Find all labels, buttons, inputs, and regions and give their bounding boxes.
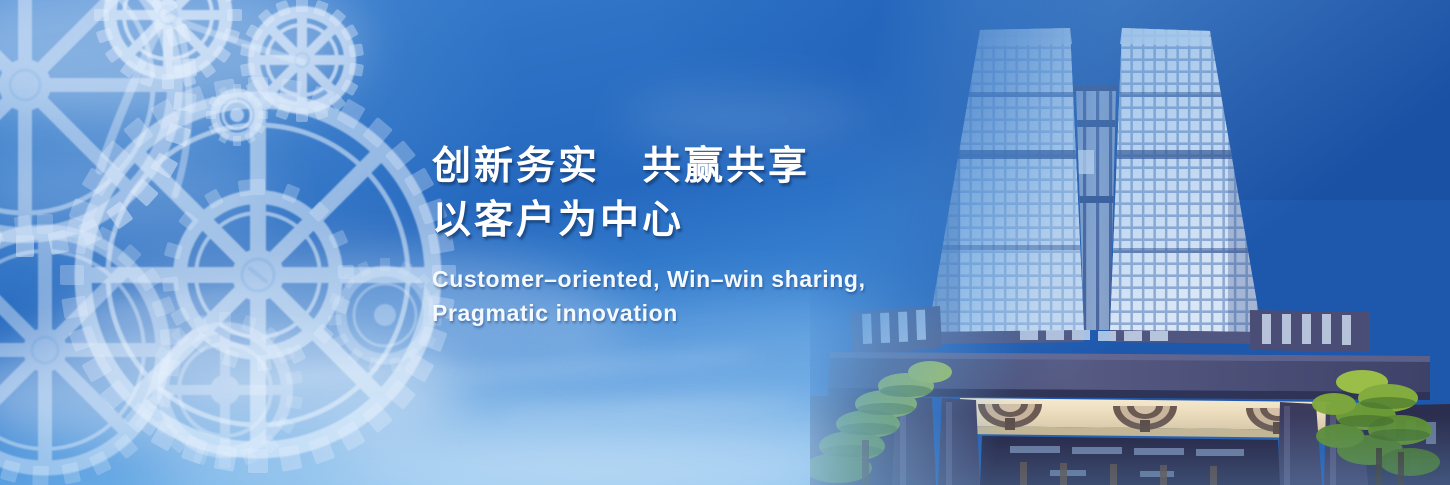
banner-copy: 创新务实 共赢共享 以客户为中心 Customer–oriented, Win–… xyxy=(432,140,1052,330)
subtitle-en-line-1: Customer–oriented, Win–win sharing, xyxy=(432,262,1052,296)
headline-cn-line-2: 以客户为中心 xyxy=(432,194,1052,248)
hero-banner: 创新务实 共赢共享 以客户为中心 Customer–oriented, Win–… xyxy=(0,0,1450,485)
headline-cn-line-1: 创新务实 共赢共享 xyxy=(432,140,1052,194)
subtitle-en-line-2: Pragmatic innovation xyxy=(432,296,1052,330)
